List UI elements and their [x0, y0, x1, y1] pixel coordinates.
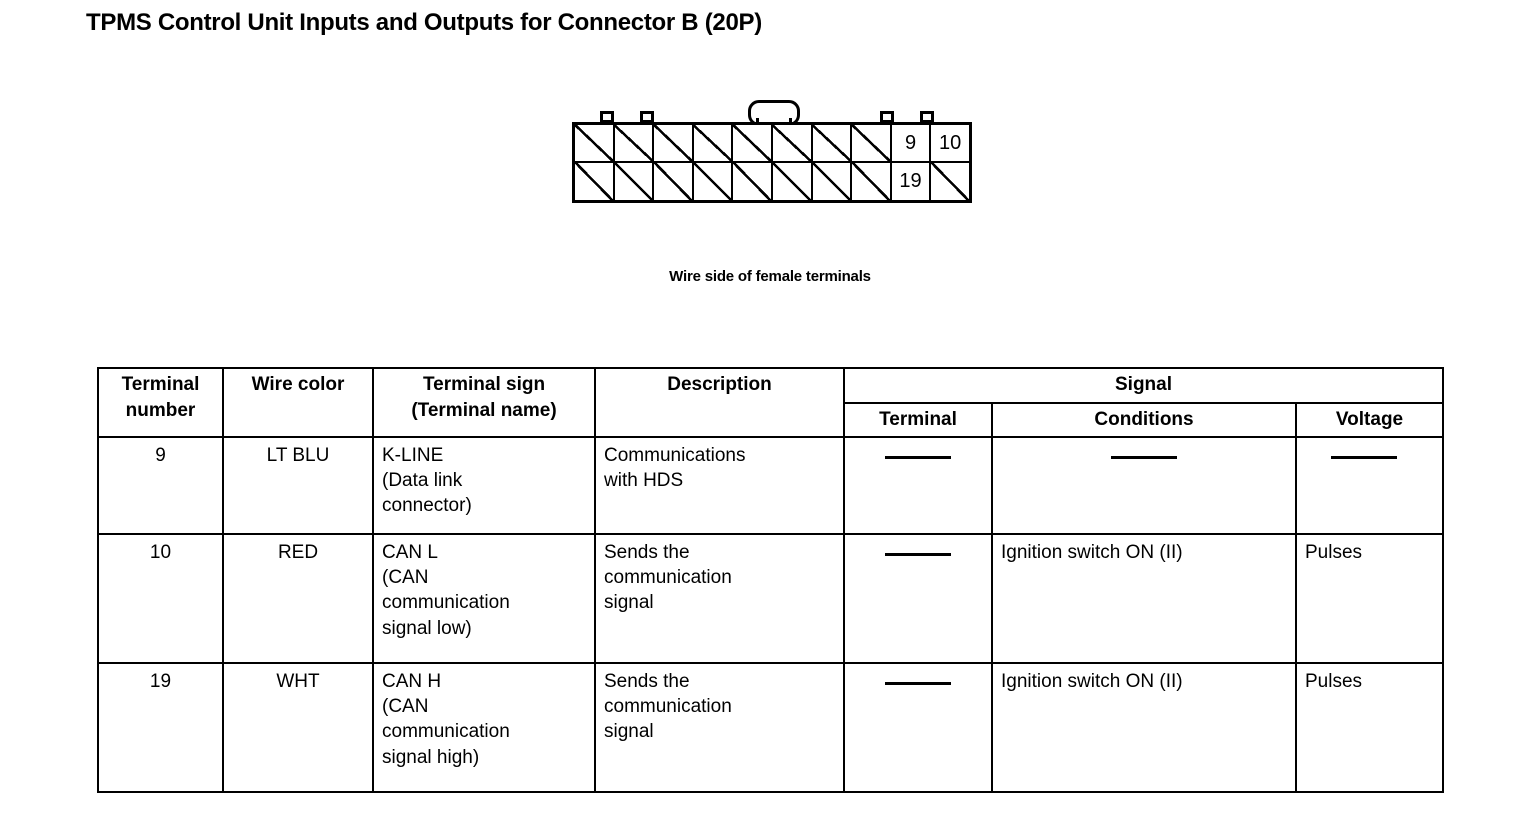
connector-cell-18	[852, 163, 892, 201]
dash-placeholder-icon	[885, 456, 951, 459]
header-wire-color: Wire color	[223, 368, 373, 437]
cell-description: Sends the communication signal	[595, 534, 844, 663]
header-terminal-sign: Terminal sign (Terminal name)	[373, 368, 595, 437]
header-signal-terminal: Terminal	[844, 403, 992, 438]
header-signal-conditions: Conditions	[992, 403, 1296, 438]
dash-placeholder-icon	[1331, 456, 1397, 459]
connector-cell-7	[813, 125, 853, 161]
dash-placeholder-icon	[885, 553, 951, 556]
cell-wire-color: WHT	[223, 663, 373, 792]
header-terminal-number: Terminal number	[98, 368, 223, 437]
dash-placeholder-icon	[1111, 456, 1177, 459]
connector-pin-label-19: 19	[892, 171, 930, 191]
figure-caption: Wire side of female terminals	[560, 268, 980, 285]
header-description: Description	[595, 368, 844, 437]
cell-description: Communications with HDS	[595, 437, 844, 534]
connector-cell-4	[694, 125, 734, 161]
connector-row-bottom: 19	[575, 163, 969, 201]
connector-cell-14	[694, 163, 734, 201]
cell-signal-terminal	[844, 534, 992, 663]
cell-signal-terminal	[844, 437, 992, 534]
cell-wire-color: LT BLU	[223, 437, 373, 534]
header-signal-voltage: Voltage	[1296, 403, 1443, 438]
dash-placeholder-icon	[885, 682, 951, 685]
cell-signal-voltage	[1296, 437, 1443, 534]
connector-cell-12	[615, 163, 655, 201]
connector-body: 9 10 19	[572, 122, 972, 203]
connector-cell-6	[773, 125, 813, 161]
table-row: 19 WHT CAN H (CAN communication signal h…	[98, 663, 1443, 792]
connector-pin-label-9: 9	[892, 133, 930, 153]
cell-signal-conditions: Ignition switch ON (II)	[992, 663, 1296, 792]
cell-signal-terminal	[844, 663, 992, 792]
connector-cell-15	[733, 163, 773, 201]
cell-terminal-number: 19	[98, 663, 223, 792]
cell-signal-voltage: Pulses	[1296, 663, 1443, 792]
cell-description: Sends the communication signal	[595, 663, 844, 792]
table-row: 9 LT BLU K-LINE (Data link connector) Co…	[98, 437, 1443, 534]
table-header-row-1: Terminal number Wire color Terminal sign…	[98, 368, 1443, 403]
table-row: 10 RED CAN L (CAN communication signal l…	[98, 534, 1443, 663]
connector-pinout-diagram: 9 10 19	[560, 92, 980, 222]
header-signal-group: Signal	[844, 368, 1443, 403]
connector-cell-1	[575, 125, 615, 161]
cell-terminal-sign: CAN L (CAN communication signal low)	[373, 534, 595, 663]
connector-cell-20	[931, 163, 969, 201]
connector-pin-label-10: 10	[931, 133, 969, 153]
cell-terminal-sign: K-LINE (Data link connector)	[373, 437, 595, 534]
connector-cell-2	[615, 125, 655, 161]
cell-terminal-number: 9	[98, 437, 223, 534]
page-title: TPMS Control Unit Inputs and Outputs for…	[86, 9, 762, 37]
connector-cell-19: 19	[892, 163, 932, 201]
cell-signal-voltage: Pulses	[1296, 534, 1443, 663]
connector-cell-16	[773, 163, 813, 201]
connector-cell-17	[813, 163, 853, 201]
connector-cell-3	[654, 125, 694, 161]
connector-cell-10: 10	[931, 125, 969, 161]
cell-wire-color: RED	[223, 534, 373, 663]
connector-cell-13	[654, 163, 694, 201]
connector-cell-11	[575, 163, 615, 201]
connector-cell-9: 9	[892, 125, 932, 161]
connector-cell-5	[733, 125, 773, 161]
cell-signal-conditions: Ignition switch ON (II)	[992, 534, 1296, 663]
cell-terminal-sign: CAN H (CAN communication signal high)	[373, 663, 595, 792]
cell-terminal-number: 10	[98, 534, 223, 663]
connector-row-top: 9 10	[575, 125, 969, 163]
terminal-io-table: Terminal number Wire color Terminal sign…	[97, 367, 1444, 793]
connector-cell-8	[852, 125, 892, 161]
cell-signal-conditions	[992, 437, 1296, 534]
